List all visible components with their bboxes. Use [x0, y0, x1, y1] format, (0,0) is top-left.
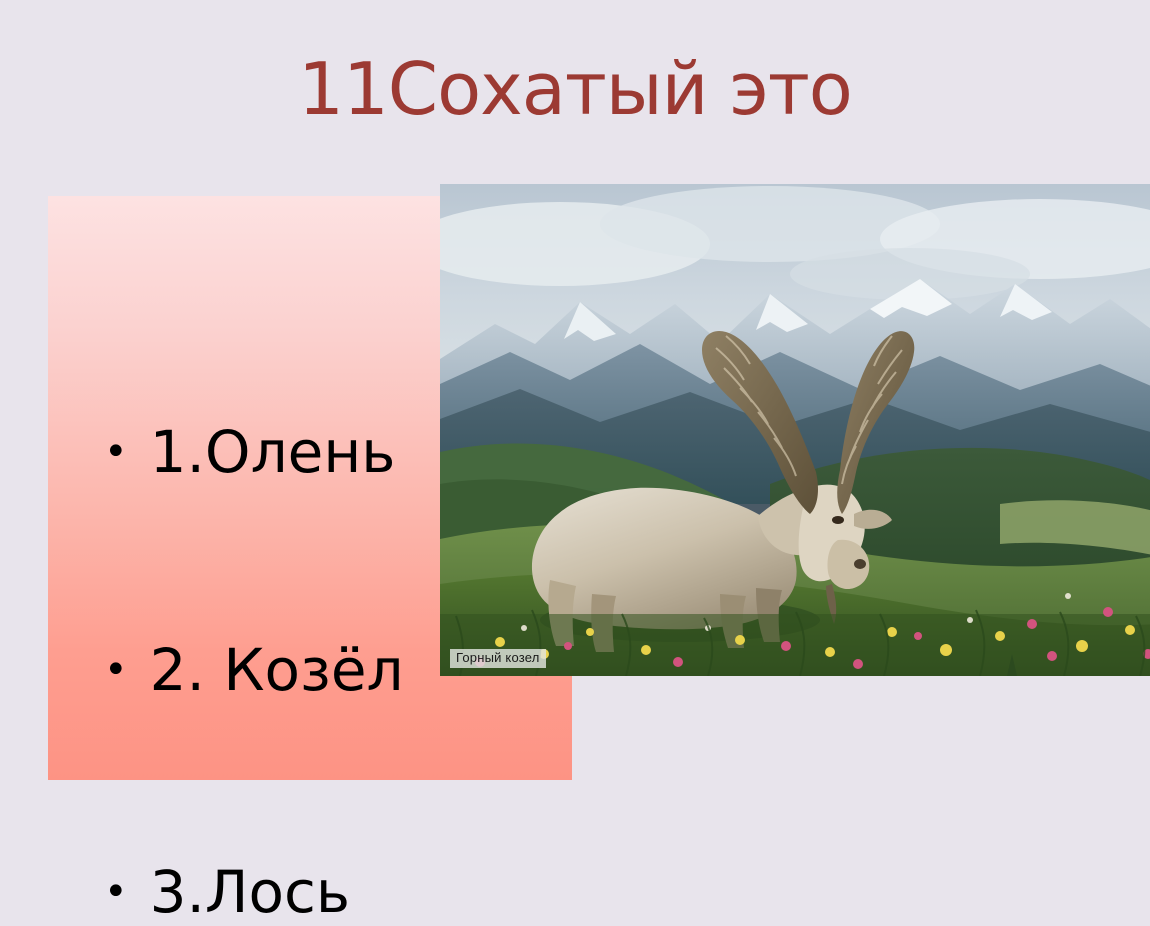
photo-caption: Горный козел — [450, 649, 546, 668]
page-title: 11Сохатый это — [0, 52, 1150, 128]
list-item[interactable]: • 2. Козёл — [104, 636, 404, 704]
photo-illustration — [440, 184, 1150, 676]
list-item[interactable]: • 3.Лось — [104, 858, 350, 926]
answer-label: 2. Козёл — [150, 636, 404, 704]
list-item[interactable]: • 1.Олень — [104, 418, 395, 486]
bullet-icon: • — [104, 650, 128, 690]
answer-label: 3.Лось — [150, 858, 351, 926]
bullet-icon: • — [104, 872, 128, 912]
answer-label: 1.Олень — [150, 418, 396, 486]
bullet-icon: • — [104, 432, 128, 472]
mountain-goat-photo: Горный козел — [440, 184, 1150, 676]
slide: 11Сохатый это • 1.Олень • 2. Козёл • 3.Л… — [0, 0, 1150, 864]
